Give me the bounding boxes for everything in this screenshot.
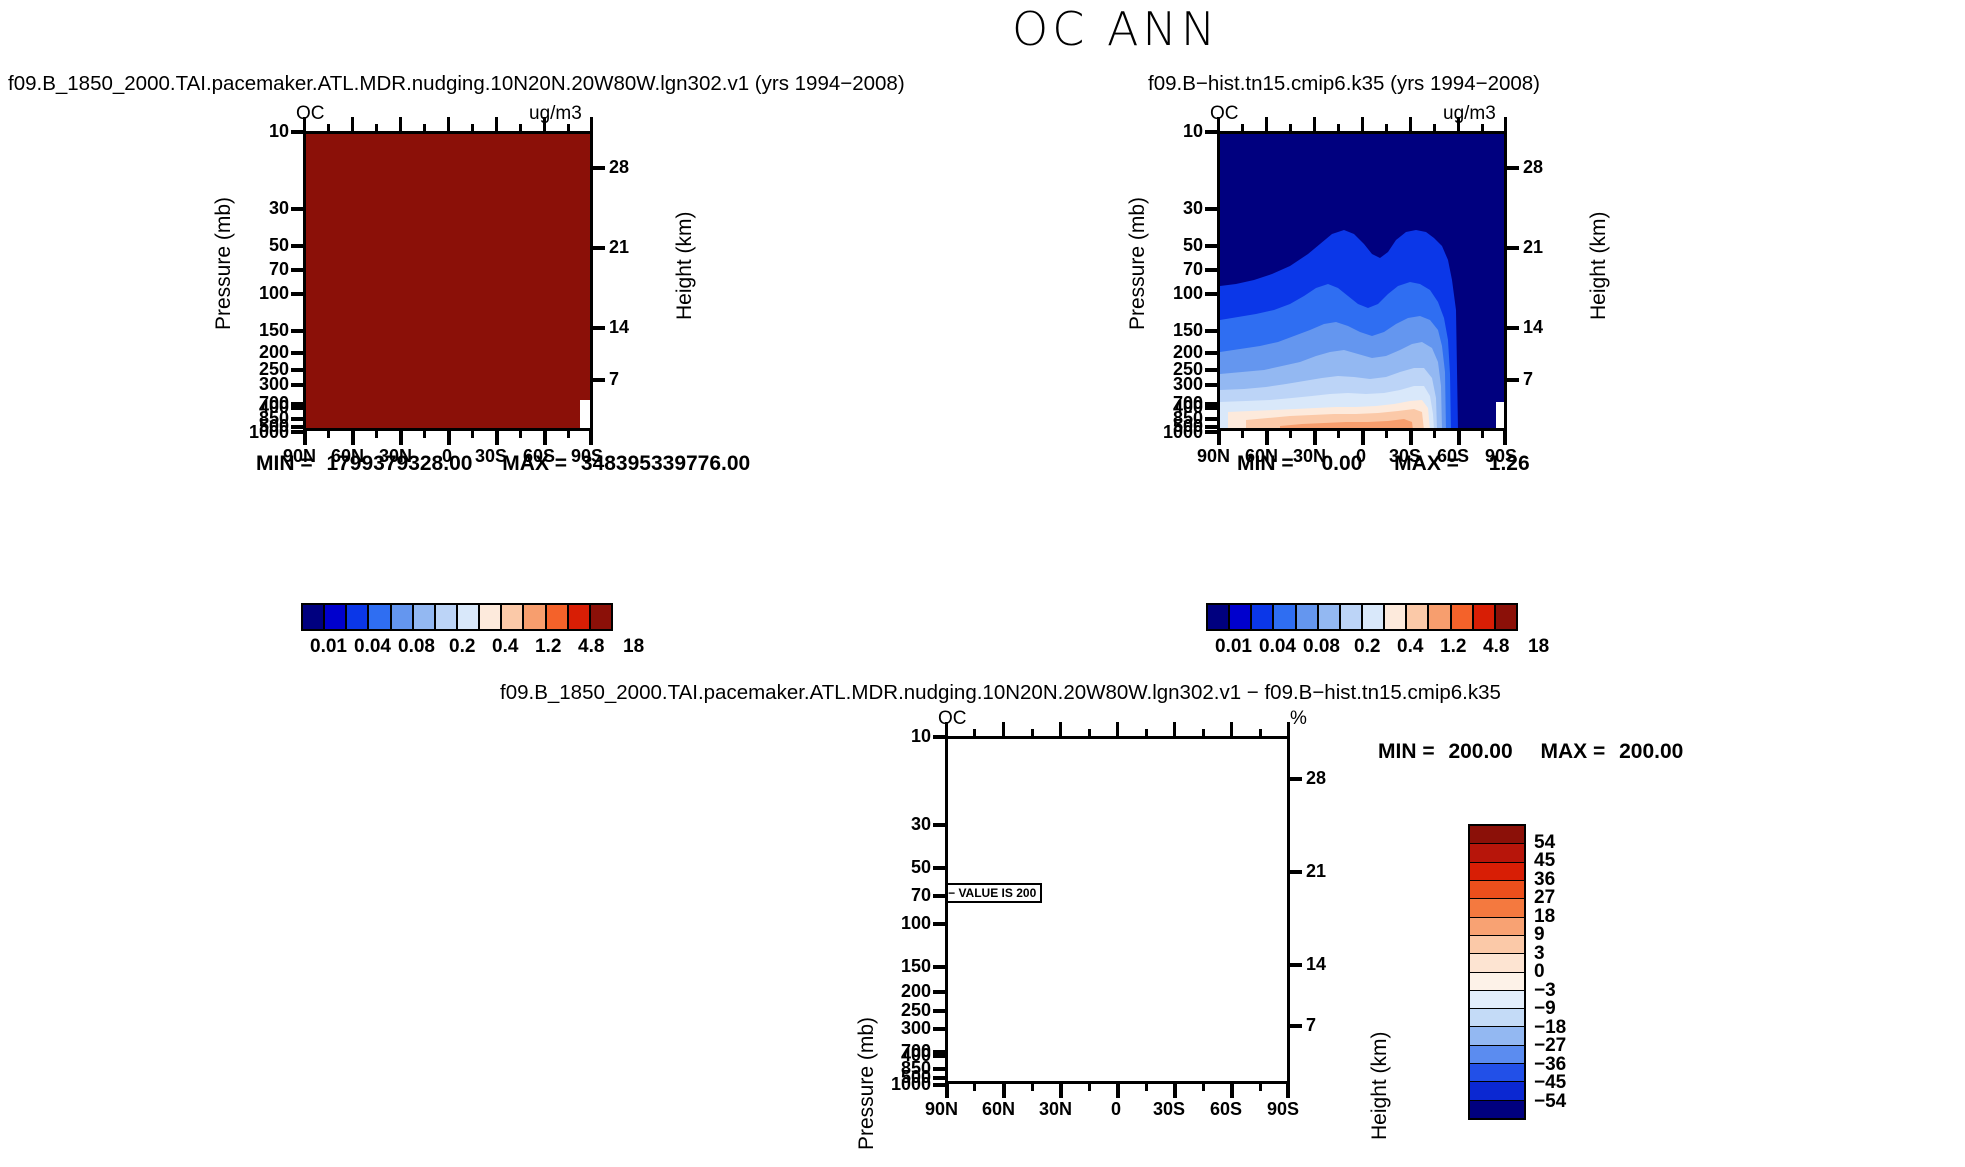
colorbar-cell xyxy=(1252,605,1274,629)
colorbar-diff-cell xyxy=(1470,936,1524,954)
colorbar-diff-cell xyxy=(1470,1027,1524,1045)
panel-bottom-minmax: MIN = 200.00 MAX = 200.00 xyxy=(1378,740,1683,764)
panel-top-left-top-ticks xyxy=(303,117,593,131)
colorbar-diff-label: −54 xyxy=(1534,1091,1566,1113)
min-value: 200.00 xyxy=(1448,740,1512,763)
colorbar-cell xyxy=(1496,605,1516,629)
panel-top-right-minmax: MIN = 0.00 MAX = 1.26 xyxy=(1237,452,1530,476)
colorbar-diff-cell xyxy=(1470,1064,1524,1082)
colorbar-diff-cell xyxy=(1470,844,1524,862)
colorbar-cell xyxy=(547,605,569,629)
colorbar-top-left[interactable] xyxy=(301,603,613,631)
colorbar-cell xyxy=(392,605,414,629)
panel-top-right-ylabel: Pressure (mb) xyxy=(1126,197,1150,330)
panel-top-right-top-ticks xyxy=(1217,117,1507,131)
panel-top-right-y2axis: 28 21 14 7 xyxy=(1507,131,1567,431)
colorbar-cell xyxy=(458,605,480,629)
panel-bottom-top-ticks xyxy=(945,722,1290,736)
min-label: MIN = xyxy=(256,452,313,475)
colorbar-cell xyxy=(569,605,591,629)
constant-field-annotation: CONSTANT FIELD − VALUE IS 200 xyxy=(945,883,1042,903)
colorbar-diff-cell xyxy=(1470,1046,1524,1064)
colorbar-cell xyxy=(347,605,369,629)
colorbar-diff-labels: 5445362718930−3−9−18−27−36−45−54 xyxy=(1534,824,1604,1120)
colorbar-diff-cell xyxy=(1470,1101,1524,1118)
colorbar-diff-cell xyxy=(1470,918,1524,936)
panel-bottom-title: f09.B_1850_2000.TAI.pacemaker.ATL.MDR.nu… xyxy=(500,681,1501,705)
panel-top-left-minmax: MIN = 1799379328.00 MAX = 348395339776.0… xyxy=(256,452,750,476)
colorbar-cell xyxy=(1208,605,1230,629)
panel-top-left-y2axis: 28 21 14 7 xyxy=(593,131,653,431)
colorbar-cell xyxy=(1474,605,1496,629)
colorbar-cell xyxy=(1429,605,1451,629)
panel-bottom-y2axis: 28 21 14 7 xyxy=(1290,736,1350,1084)
colorbar-top-right-labels: 0.01 0.04 0.08 0.2 0.4 1.2 4.8 18 xyxy=(1206,636,1518,660)
panel-bottom-xaxis: 90N 60N 30N 0 30S 60S 90S xyxy=(945,1084,1290,1118)
colorbar-cell xyxy=(1407,605,1429,629)
panel-bottom-diff: f09.B_1850_2000.TAI.pacemaker.ATL.MDR.nu… xyxy=(0,680,1965,1167)
colorbar-cell xyxy=(1452,605,1474,629)
min-value: 1799379328.00 xyxy=(326,452,472,475)
colorbar-diff-cell xyxy=(1470,826,1524,844)
colorbar-cell xyxy=(502,605,524,629)
colorbar-diff-cell xyxy=(1470,973,1524,991)
colorbar-diff-cell xyxy=(1470,1082,1524,1100)
panel-top-right-plot xyxy=(1217,131,1507,431)
panel-bottom-ylabel: Pressure (mb) xyxy=(855,1017,879,1150)
colorbar-cell xyxy=(524,605,546,629)
panel-top-left-y2label: Height (km) xyxy=(673,211,697,320)
colorbar-cell xyxy=(1297,605,1319,629)
colorbar-diff-cell xyxy=(1470,881,1524,899)
max-label: MAX = xyxy=(1541,740,1606,763)
panel-top-left-yaxis-lower: 700 850 1000 xyxy=(255,131,303,431)
panel-top-left-ylabel: Pressure (mb) xyxy=(212,197,236,330)
panel-top-right-y2label: Height (km) xyxy=(1587,211,1611,320)
panel-top-right-yaxis-lower: 700 850 1000 xyxy=(1169,131,1217,431)
colorbar-top-left-labels: 0.01 0.04 0.08 0.2 0.4 1.2 4.8 18 xyxy=(301,636,613,660)
max-label: MAX = xyxy=(1394,452,1459,475)
colorbar-cell xyxy=(480,605,502,629)
colorbar-cell xyxy=(369,605,391,629)
colorbar-cell xyxy=(303,605,325,629)
panel-top-right-title: f09.B−hist.tn15.cmip6.k35 (yrs 1994−2008… xyxy=(1148,72,1540,96)
min-label: MIN = xyxy=(1378,740,1435,763)
colorbar-cell xyxy=(1363,605,1385,629)
colorbar-cell xyxy=(1341,605,1363,629)
colorbar-cell xyxy=(436,605,458,629)
max-value: 1.26 xyxy=(1489,452,1530,475)
colorbar-top-right[interactable] xyxy=(1206,603,1518,631)
panel-bottom-plot: CONSTANT FIELD − VALUE IS 200 xyxy=(945,736,1290,1084)
colorbar-diff-cell xyxy=(1470,954,1524,972)
colorbar-cell xyxy=(414,605,436,629)
colorbar-diff[interactable] xyxy=(1468,824,1526,1120)
panel-top-right: f09.B−hist.tn15.cmip6.k35 (yrs 1994−2008… xyxy=(1100,0,1965,690)
panel-top-left: f09.B_1850_2000.TAI.pacemaker.ATL.MDR.nu… xyxy=(0,0,900,690)
colorbar-diff-cell xyxy=(1470,991,1524,1009)
min-label: MIN = xyxy=(1237,452,1294,475)
min-value: 0.00 xyxy=(1321,452,1362,475)
colorbar-cell xyxy=(1385,605,1407,629)
max-value: 348395339776.00 xyxy=(581,452,750,475)
panel-top-left-title: f09.B_1850_2000.TAI.pacemaker.ATL.MDR.nu… xyxy=(8,72,905,96)
colorbar-cell xyxy=(1274,605,1296,629)
colorbar-cell xyxy=(1319,605,1341,629)
colorbar-diff-cell xyxy=(1470,899,1524,917)
max-label: MAX = xyxy=(502,452,567,475)
colorbar-cell xyxy=(591,605,611,629)
colorbar-diff-cell xyxy=(1470,1009,1524,1027)
panel-bottom-y2label: Height (km) xyxy=(1368,1031,1392,1140)
panel-bottom-units: % xyxy=(1290,708,1307,730)
panel-bottom-yaxis-lower: 700 850 1000 xyxy=(897,736,945,1084)
panel-top-left-plot xyxy=(303,131,593,431)
colorbar-diff-cell xyxy=(1470,863,1524,881)
colorbar-cell xyxy=(1230,605,1252,629)
max-value: 200.00 xyxy=(1619,740,1683,763)
colorbar-cell xyxy=(325,605,347,629)
